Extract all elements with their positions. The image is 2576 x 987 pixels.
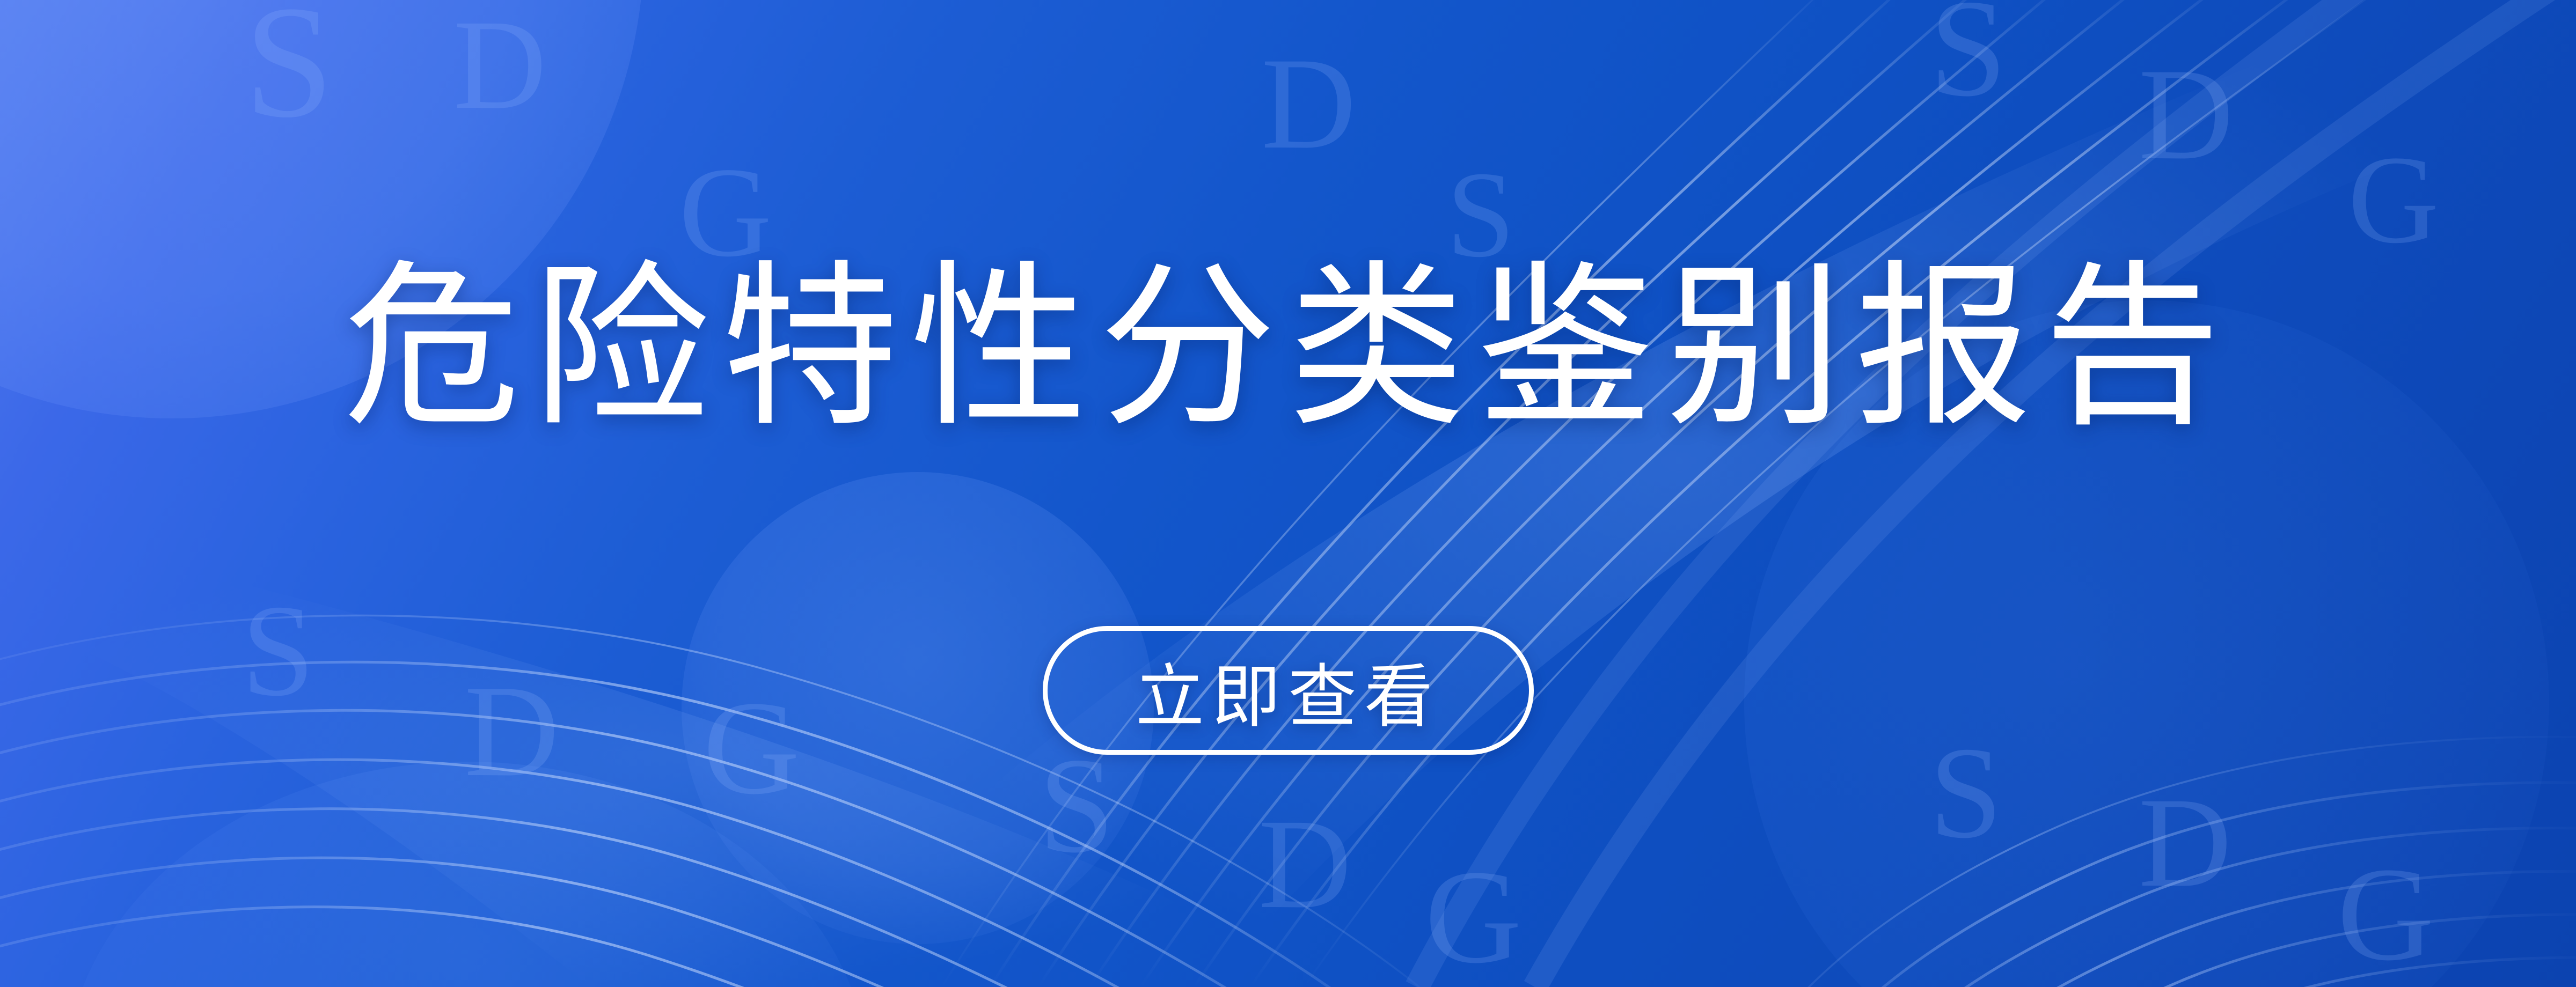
view-now-button-label: 立即查看 bbox=[1136, 641, 1440, 740]
banner-title: 危险特性分类鉴别报告 bbox=[343, 252, 2233, 443]
banner-content: 危险特性分类鉴别报告 立即查看 bbox=[0, 0, 2576, 987]
cta-wrapper: 立即查看 bbox=[1043, 626, 1534, 755]
view-now-button[interactable]: 立即查看 bbox=[1043, 626, 1534, 755]
promo-banner: S D G D S S D G S D G S D G S D G 危险特性分类… bbox=[0, 0, 2576, 987]
